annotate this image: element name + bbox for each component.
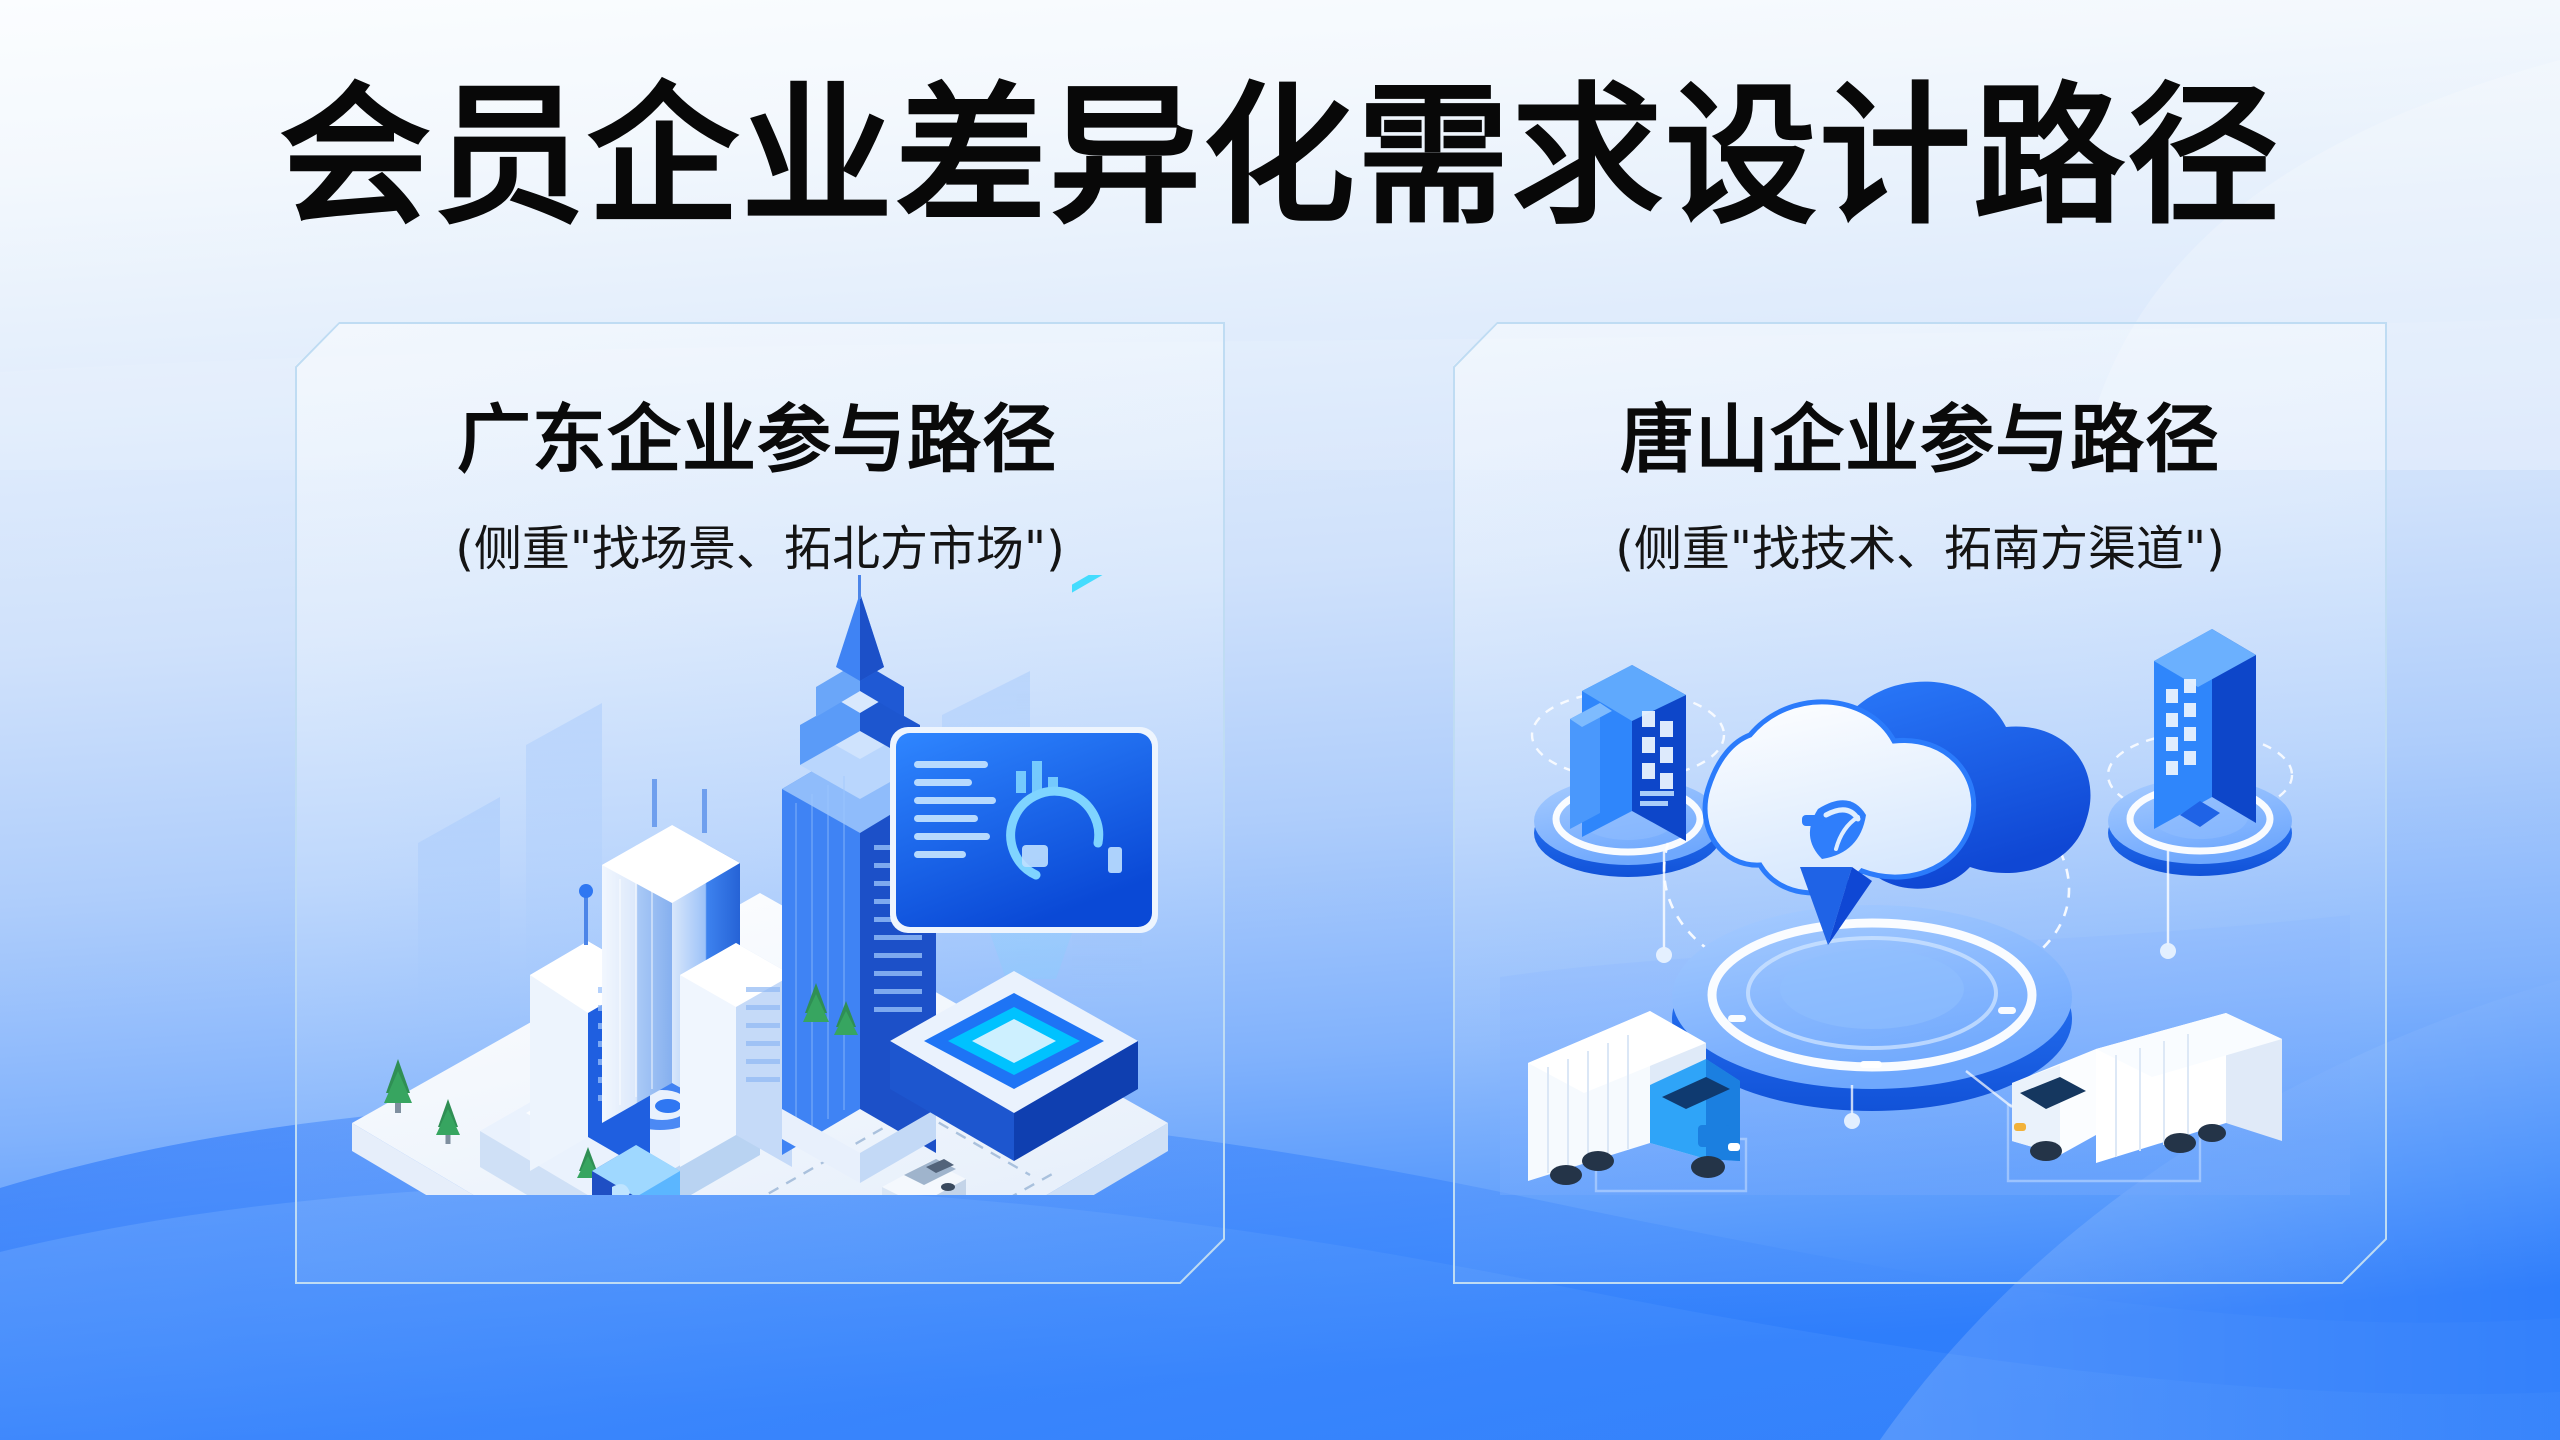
illustration-isometric-smart-city	[330, 575, 1190, 1195]
panel-heading-guangdong: 广东企业参与路径 (侧重"找场景、拓北方市场")	[295, 380, 1225, 579]
illustration-cloud-logistics-network	[1500, 615, 2350, 1195]
page-title: 会员企业差异化需求设计路径	[0, 72, 2560, 242]
panel-subtitle-tangshan: (侧重"找技术、拓南方渠道")	[1453, 509, 2387, 579]
panel-title-guangdong: 广东企业参与路径	[289, 380, 1225, 487]
panel-heading-tangshan: 唐山企业参与路径 (侧重"找技术、拓南方渠道")	[1453, 380, 2387, 579]
mid-tower	[680, 943, 792, 1167]
panel-subtitle-guangdong: (侧重"找场景、拓北方市场")	[295, 509, 1225, 579]
iot-panel-node-right	[2108, 629, 2292, 959]
building-node-left	[1532, 665, 1724, 963]
cloud-platform-center	[1664, 682, 2090, 1111]
panel-title-tangshan: 唐山企业参与路径	[1453, 380, 2387, 487]
